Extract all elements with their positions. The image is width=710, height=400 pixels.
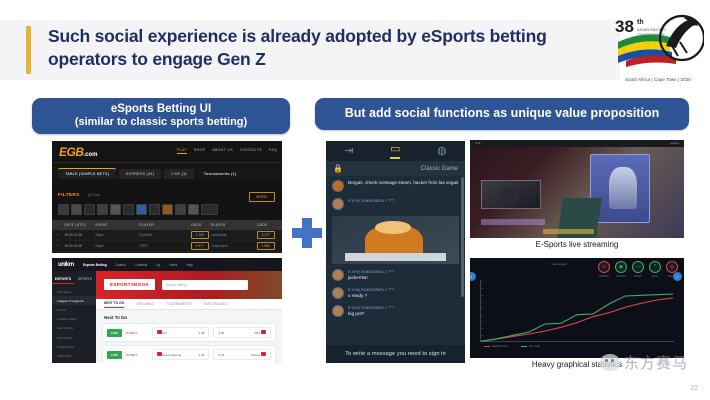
- egb-tab-live[interactable]: LIVE (3): [164, 169, 194, 179]
- sidebar-item-r6[interactable]: Rainbow Six: [52, 342, 96, 351]
- team-logo-icon: [261, 330, 266, 334]
- message-image: [332, 216, 459, 264]
- egb-nav: PLAY SHOP ABOUT US CONTACTS FAQ: [177, 148, 277, 154]
- bet-option-right[interactable]: 2.75 Rogue: [213, 349, 271, 360]
- unikrn-tab-esports[interactable]: ESPORTS: [52, 275, 74, 284]
- sidebar-item-hearthstone[interactable]: Hearthstone: [52, 361, 96, 364]
- event-time: 15 SEPT: [126, 353, 148, 357]
- chart-legend: Radiant Gold Dire Gold: [470, 342, 684, 348]
- row-event: Major: [96, 233, 140, 237]
- egb-filters-clear[interactable]: [x] Clear: [88, 193, 100, 197]
- live-badge: LIVE: [107, 351, 122, 359]
- metric-label: GOLD: [649, 275, 661, 278]
- slide-root: Such social experience is already adopte…: [0, 0, 710, 400]
- stats-chart-plot: i i: [480, 280, 674, 342]
- egb-nav-contacts[interactable]: CONTACTS: [240, 148, 262, 154]
- egb-nav-about[interactable]: ABOUT US: [212, 148, 233, 154]
- chat-room-name: Classic Game: [421, 166, 458, 172]
- avatar: [332, 180, 344, 192]
- overwatch-icon[interactable]: [123, 204, 134, 215]
- statistics-line-chart: [481, 280, 675, 342]
- list-item: я хочу пожаловать с ***: jackerrtw!: [332, 269, 459, 281]
- cod-icon[interactable]: [188, 204, 199, 215]
- stream-video-frame[interactable]: [470, 147, 684, 238]
- egb-filters-panel: FILTERS [x] Clear MORE: [52, 179, 282, 220]
- team-logo-icon: [157, 352, 162, 356]
- metric-label: MINUS: [632, 275, 644, 278]
- row-odds2[interactable]: 1.984: [257, 242, 275, 250]
- screenshot-egb-betting: EGB.com PLAY SHOP ABOUT US CONTACTS FAQ …: [52, 141, 282, 253]
- lol-icon[interactable]: [97, 204, 108, 215]
- csgo-icon[interactable]: [58, 204, 69, 215]
- bet-option-left[interactable]: G2 1.38: [152, 327, 210, 338]
- egb-col-player1: PLAYER: [140, 223, 191, 227]
- message-text: u ready ?: [348, 293, 459, 299]
- metric-label: ASSISTS: [615, 275, 627, 278]
- skull-icon: ☠: [598, 261, 610, 273]
- fifa-icon[interactable]: [149, 204, 160, 215]
- metric-assists[interactable]: ◉ ASSISTS: [615, 261, 627, 278]
- search-input[interactable]: Search betting: [162, 280, 248, 290]
- row-odds1[interactable]: 1.755: [191, 231, 209, 239]
- logo-graphic: 38 th ASIAN RACING CONFERENCE: [612, 6, 704, 78]
- row-player1: OPET: [140, 244, 191, 248]
- list-item: я хочу пожаловать с ***:: [332, 198, 459, 210]
- egb-more-button[interactable]: MORE: [249, 192, 275, 202]
- sidebar-item-cod[interactable]: Call of Duty: [52, 324, 96, 333]
- chart-badge-right[interactable]: i: [673, 272, 682, 281]
- unikrn-hero-banner: ESPORTSBOOK Search betting: [96, 271, 282, 299]
- page-number: 22: [690, 385, 698, 392]
- list-item: я хочу пожаловать с ***: u ready ?: [332, 287, 459, 299]
- egb-nav-faq[interactable]: FAQ: [269, 148, 277, 154]
- bet-option-right[interactable]: 4.00 FNC: [213, 327, 271, 338]
- stream-topbar: LIVE viewers: [470, 140, 684, 147]
- game-hud-bottom: [543, 229, 594, 234]
- egb-col-expand: +: [57, 223, 64, 227]
- unikrn-sidebar-list: All Games League of Legends Dota 2 Count…: [52, 287, 96, 363]
- stats-header-label: Last session: [551, 262, 567, 266]
- unikrn-tab-sports[interactable]: SPORTS: [74, 275, 96, 284]
- egb-nav-play[interactable]: PLAY: [177, 148, 187, 154]
- pubg-icon[interactable]: [162, 204, 173, 215]
- login-icon[interactable]: ⇥: [344, 146, 353, 157]
- row-expand-icon[interactable]: +: [57, 244, 64, 248]
- egb-col-player2: PLAYER: [211, 223, 257, 227]
- chat-signin-notice[interactable]: To write a message you need to sign in: [326, 345, 465, 363]
- egb-table-header: + DATE (UTC) EVENT PLAYER ODDS PLAYER OD…: [52, 220, 282, 230]
- plus-icon: [292, 218, 322, 248]
- sidebar-item-lol[interactable]: League of Legends: [52, 296, 96, 305]
- subtab-upcoming[interactable]: UPCOMING: [136, 302, 154, 306]
- unikrn-main: ESPORTSBOOK Search betting NEXT TO GO UP…: [96, 271, 282, 363]
- starcraft-icon[interactable]: [71, 204, 82, 215]
- logo-subtitle: South Africa | Cape Town | 2020: [612, 77, 704, 82]
- lock-icon: 🔒: [333, 164, 343, 173]
- metric-deaths[interactable]: ☠ DEATHS: [598, 261, 610, 278]
- legend-item-radiant: Radiant Gold: [484, 345, 507, 348]
- rocket-league-icon[interactable]: [175, 204, 186, 215]
- row-odds1[interactable]: 1.917: [191, 242, 209, 250]
- sidebar-item-csgo[interactable]: Counter-Strike: [52, 315, 96, 324]
- message-text: big pot?: [348, 311, 459, 317]
- sidebar-item-starcraft[interactable]: StarCraft II: [52, 351, 96, 360]
- title-accent-bar: [26, 26, 31, 74]
- egb-tabs: TABLE (SIMPLE BETS) EXPRESS (44) LIVE (3…: [52, 163, 282, 179]
- screenshot-unikrn-betting: unikrn Esports Betting Casino Contests U…: [52, 258, 282, 363]
- unikrn-nav-news[interactable]: News: [169, 263, 177, 267]
- stats-header: Last session ☠ DEATHS ◉ ASSISTS — MINUS …: [470, 258, 684, 280]
- svg-text:th: th: [637, 19, 644, 26]
- dice-icon[interactable]: ◍: [437, 146, 447, 157]
- avatar: [332, 269, 344, 281]
- dota2-icon[interactable]: [110, 204, 121, 215]
- unikrn-sidebar: ESPORTS SPORTS All Games League of Legen…: [52, 271, 96, 363]
- list-item[interactable]: LIVE 15 SEPT Excel Gaming 1.40 2.75 Rogu…: [102, 345, 276, 363]
- egb-topbar: EGB.com PLAY SHOP ABOUT US CONTACTS FAQ: [52, 141, 282, 163]
- message-text: jackerrtw!: [348, 275, 459, 281]
- banner-social-functions: But add social functions as unique value…: [315, 98, 689, 130]
- team2-odds: 4.00: [218, 331, 224, 335]
- unikrn-nav-casino[interactable]: Casino: [116, 263, 126, 267]
- message-text: Borgas, check message steam, hacker from…: [348, 180, 459, 186]
- game-hud-left: [481, 219, 545, 225]
- legend-item-dire: Dire Gold: [521, 345, 540, 348]
- chat-message-list: Borgas, check message steam, hacker from…: [326, 176, 465, 327]
- team-logo-icon: [261, 352, 266, 356]
- unikrn-nav-contests[interactable]: Contests: [135, 263, 148, 267]
- esportsbook-title: ESPORTSBOOK: [104, 279, 155, 290]
- row-date: 15.09 15:45: [64, 244, 95, 248]
- egb-tab-express[interactable]: EXPRESS (44): [119, 169, 161, 179]
- unikrn-section-title: Next To Go: [96, 310, 282, 323]
- game-character: [609, 167, 637, 209]
- wechat-watermark: 东方赛马: [600, 352, 688, 373]
- team2-name: FNC: [254, 331, 260, 335]
- sidebar-item-overwatch[interactable]: Overwatch: [52, 333, 96, 342]
- egb-brand: EGB: [59, 145, 84, 159]
- egb-filter-other[interactable]: [201, 204, 218, 215]
- avatar: [332, 198, 344, 210]
- conference-logo: 38 th ASIAN RACING CONFERENCE South Afri…: [612, 6, 704, 84]
- egb-tab-table[interactable]: TABLE (SIMPLE BETS): [58, 168, 116, 179]
- egb-col-event: EVENT: [96, 223, 140, 227]
- metric-minus[interactable]: — MINUS: [632, 261, 644, 278]
- team1-odds: 1.38: [199, 331, 205, 335]
- row-date: 15.09 14:45: [64, 233, 95, 237]
- table-row[interactable]: + 15.09 15:45 Major OPET 1.917 Grayhound…: [52, 241, 282, 252]
- chat-scrollbar[interactable]: [461, 177, 464, 297]
- svg-text:38: 38: [615, 17, 634, 36]
- list-item[interactable]: LIVE 15 SEPT G2 1.38 4.00 FNC: [102, 323, 276, 342]
- egb-col-odds2: ODDS: [257, 223, 277, 227]
- egb-filters-label: FILTERS: [58, 192, 80, 197]
- stream-live-label: LIVE: [475, 142, 481, 145]
- page-title: Such social experience is already adopte…: [48, 25, 588, 72]
- subtab-tournaments[interactable]: TOURNAMENTS: [166, 302, 191, 306]
- screenshot-live-stream: LIVE viewers: [470, 140, 684, 238]
- event-time: 15 SEPT: [126, 331, 148, 335]
- egb-tab-tournaments[interactable]: Tournaments (1): [197, 169, 243, 179]
- gold-icon: ^: [649, 261, 661, 273]
- row-player2: complexity: [211, 233, 257, 237]
- egb-col-odds1: ODDS: [191, 223, 211, 227]
- unikrn-nav-up[interactable]: Up: [156, 263, 160, 267]
- warcraft-icon[interactable]: [136, 204, 147, 215]
- live-badge: LIVE: [107, 329, 122, 337]
- subtab-next-to-go[interactable]: NEXT TO GO: [104, 301, 124, 308]
- unikrn-nav-esports-betting[interactable]: Esports Betting: [83, 263, 107, 267]
- metric-gold[interactable]: ^ GOLD: [649, 261, 661, 278]
- row-player1: FlyOrDie: [140, 233, 191, 237]
- banner-left-line1: eSports Betting UI: [75, 102, 247, 116]
- streamer-facecam: [481, 180, 541, 209]
- team2-odds: 2.75: [218, 353, 224, 357]
- egb-logo: EGB.com: [59, 145, 98, 159]
- unikrn-subtabs: NEXT TO GO UPCOMING TOURNAMENTS MOST BAC…: [96, 299, 282, 310]
- subtab-most-backed[interactable]: MOST BACKED: [204, 302, 228, 306]
- unikrn-body: ESPORTS SPORTS All Games League of Legen…: [52, 271, 282, 363]
- stats-metric-circles: ☠ DEATHS ◉ ASSISTS — MINUS ^ GOLD ◎ SC: [598, 261, 678, 278]
- list-item: Borgas, check message steam, hacker from…: [332, 180, 459, 192]
- team-logo-icon: [157, 330, 162, 334]
- egb-brand-suffix: .com: [84, 152, 98, 158]
- chat-icon-bar: ⇥ ▭ ◍: [326, 141, 465, 161]
- unikrn-logo: unikrn: [58, 262, 74, 268]
- banner-left-line2: (similar to classic sports betting): [75, 116, 247, 129]
- minus-icon: —: [632, 261, 644, 273]
- unikrn-topbar: unikrn Esports Betting Casino Contests U…: [52, 258, 282, 271]
- row-event: Major: [96, 244, 140, 248]
- hearthstone-icon[interactable]: [84, 204, 95, 215]
- row-odds2[interactable]: 2.107: [257, 231, 275, 239]
- avatar: [332, 287, 344, 299]
- team1-name: Excel Gaming: [163, 353, 182, 357]
- sidebar-item-all-games[interactable]: All Games: [52, 287, 96, 296]
- chat-room-header: 🔒 Classic Game: [326, 161, 465, 176]
- assist-icon: ◉: [615, 261, 627, 273]
- wechat-icon: [600, 354, 620, 371]
- table-row[interactable]: + 15.09 17:15 Major ImmortalsFly 1.600 G…: [52, 252, 282, 253]
- egb-filter-icon-row: [58, 204, 276, 215]
- stream-viewers-label: viewers: [670, 142, 679, 145]
- list-item: я хочу пожаловать с ***: big pot?: [332, 305, 459, 317]
- unikrn-nav-help[interactable]: Help: [186, 263, 193, 267]
- message-user: я хочу пожаловать с ***:: [348, 198, 459, 204]
- row-expand-icon[interactable]: +: [57, 233, 64, 237]
- watermark-text: 东方赛马: [624, 352, 688, 373]
- team2-name: Rogue: [251, 353, 260, 357]
- table-row[interactable]: + 15.09 14:45 Major FlyOrDie 1.755 compl…: [52, 230, 282, 241]
- egb-col-date: DATE (UTC): [64, 223, 95, 227]
- row-player2: Grayhound: [211, 244, 257, 248]
- screenshot-social-chat: ⇥ ▭ ◍ 🔒 Classic Game Borgas, check messa…: [326, 141, 465, 363]
- team1-odds: 1.40: [199, 353, 205, 357]
- chat-bubble-icon[interactable]: ▭: [390, 144, 400, 159]
- egb-nav-shop[interactable]: SHOP: [194, 148, 205, 154]
- banner-esports-betting-ui: eSports Betting UI (similar to classic s…: [32, 98, 290, 134]
- sidebar-item-dota2[interactable]: Dota 2: [52, 305, 96, 314]
- bet-option-left[interactable]: Excel Gaming 1.40: [152, 349, 210, 360]
- unikrn-sidebar-tabs: ESPORTS SPORTS: [52, 275, 96, 284]
- caption-live-streaming: E-Sports live streaming: [470, 240, 684, 249]
- metric-label: DEATHS: [598, 275, 610, 278]
- screenshot-graphical-statistics: Last session ☠ DEATHS ◉ ASSISTS — MINUS …: [470, 258, 684, 358]
- avatar: [332, 305, 344, 317]
- team1-name: G2: [163, 331, 167, 335]
